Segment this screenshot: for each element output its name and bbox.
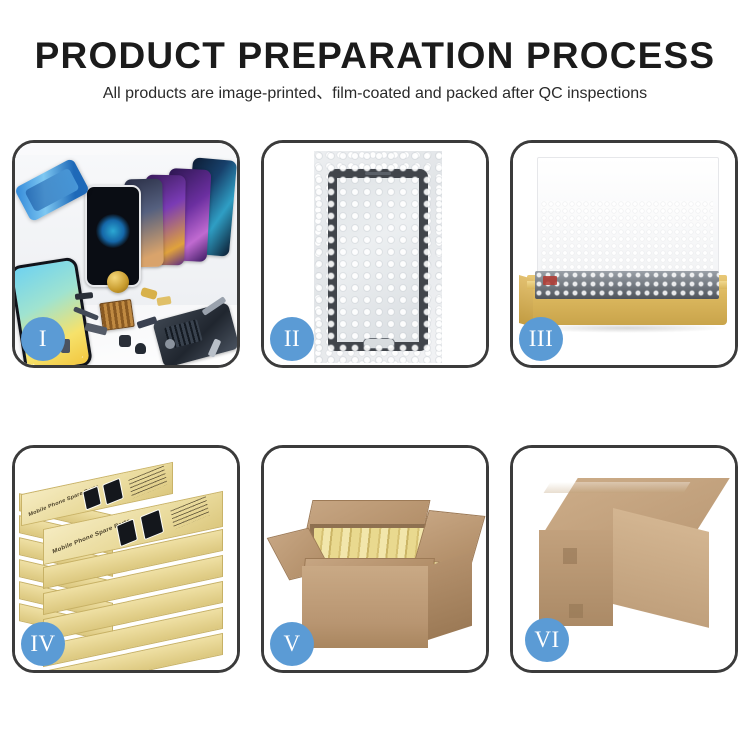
- process-step-card-3[interactable]: III: [510, 140, 738, 368]
- carton-side-face: [428, 552, 472, 640]
- small-part-icon: [165, 339, 175, 349]
- product-preparation-infographic: PRODUCT PREPARATION PROCESS All products…: [0, 0, 750, 750]
- process-step-grid: I II: [12, 140, 738, 673]
- phone-screen-icon: [328, 169, 428, 351]
- step-badge-4: IV: [21, 622, 65, 666]
- page-subtitle: All products are image-printed、film-coat…: [0, 84, 750, 104]
- process-step-card-4[interactable]: Mobile Phone Spare Parts Mobile Phone Sp…: [12, 445, 240, 673]
- process-step-card-6[interactable]: VI: [510, 445, 738, 673]
- step-badge-5: V: [270, 622, 314, 666]
- process-step-card-1[interactable]: I: [12, 140, 240, 368]
- bubble-wrap-sheet: [314, 151, 442, 363]
- packing-tape-icon: [544, 482, 691, 493]
- gold-coil-icon: [107, 271, 129, 293]
- step-badge-6: VI: [525, 618, 569, 662]
- step-badge-2: II: [270, 317, 314, 361]
- step-badge-3: III: [519, 317, 563, 361]
- small-part-icon: [119, 335, 131, 347]
- carton-front-face: [302, 566, 428, 648]
- circuit-board-icon: [152, 302, 237, 365]
- small-part-icon: [135, 343, 146, 354]
- process-step-card-2[interactable]: II: [261, 140, 489, 368]
- carton-tab-icon: [569, 604, 583, 618]
- carton-tab-icon: [563, 548, 577, 564]
- header: PRODUCT PREPARATION PROCESS All products…: [0, 34, 750, 104]
- step-badge-1: I: [21, 317, 65, 361]
- process-step-card-5[interactable]: V: [261, 445, 489, 673]
- wrapped-screen-icon: [535, 271, 719, 299]
- page-title: PRODUCT PREPARATION PROCESS: [0, 34, 750, 78]
